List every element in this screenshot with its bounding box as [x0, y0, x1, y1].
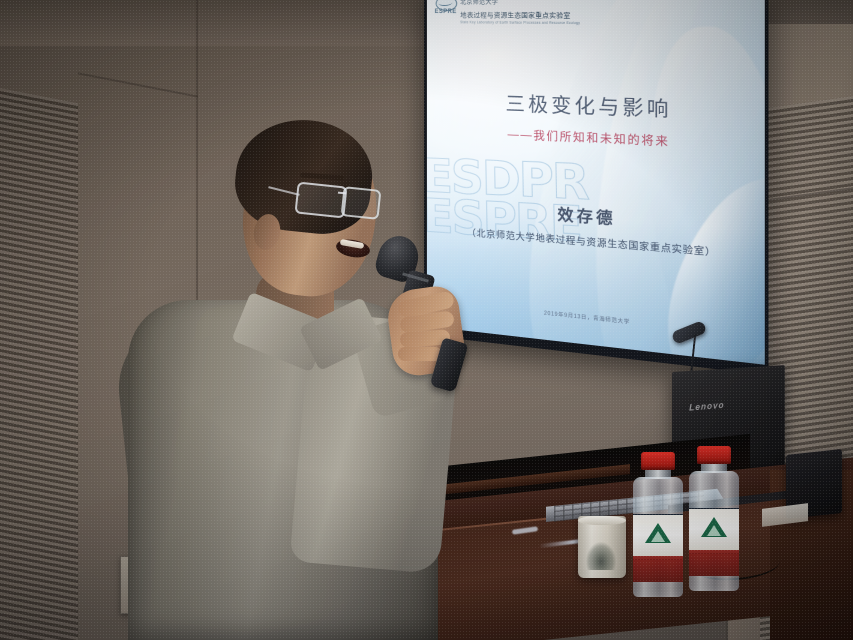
ceramic-mug[interactable] — [578, 516, 626, 578]
bottle-label — [633, 514, 683, 560]
bottle-neck — [645, 469, 671, 479]
mug-rim — [578, 516, 626, 525]
wall-panel-sublabel: MEDIA PANEL — [149, 577, 175, 582]
laptop-brand-label: Lenovo — [689, 400, 724, 413]
logo-text-block: 北京师范大学 地表过程与资源生态国家重点实验室 State Key Labora… — [460, 0, 580, 25]
logo-lab-name: 地表过程与资源生态国家重点实验室 — [460, 9, 580, 20]
wall-slat-panel-left — [0, 88, 78, 640]
espre-logo-icon: ESPRE — [435, 0, 457, 20]
speaker-grille-icon — [133, 587, 185, 607]
bottle-label-red-band — [689, 550, 739, 576]
logo-lab-name-en: State Key Laboratory of Earth Surface Pr… — [460, 20, 580, 25]
mountain-logo-inner-icon — [651, 531, 665, 542]
bottle-label — [689, 508, 739, 554]
bottle-cap[interactable] — [697, 446, 731, 464]
wall-media-panel[interactable]: 青海师范大学 MEDIA PANEL — [120, 556, 214, 614]
logo-acronym: ESPRE — [435, 9, 457, 15]
projection-screen: ESDPR ESPRE ESPRE 北京师范大学 地表过程与资源生态国家重点实验… — [427, 0, 765, 365]
bottle-label-red-band — [633, 556, 683, 582]
mountain-logo-inner-icon — [707, 525, 721, 536]
bottle-cap[interactable] — [641, 452, 675, 470]
presentation-photo: 青海师范大学 MEDIA PANEL ESDPR ESPRE ESPRE — [0, 0, 853, 640]
panel-badge — [190, 601, 208, 607]
projection-screen-frame: ESDPR ESPRE ESPRE 北京师范大学 地表过程与资源生态国家重点实验… — [424, 0, 768, 375]
bottle-neck — [701, 463, 727, 473]
slide-header-logo: ESPRE 北京师范大学 地表过程与资源生态国家重点实验室 State Key … — [435, 0, 580, 25]
mug-decoration — [586, 542, 616, 570]
logo-university-name: 北京师范大学 — [460, 0, 580, 6]
wall-panel-label: 青海师范大学 — [137, 567, 179, 577]
